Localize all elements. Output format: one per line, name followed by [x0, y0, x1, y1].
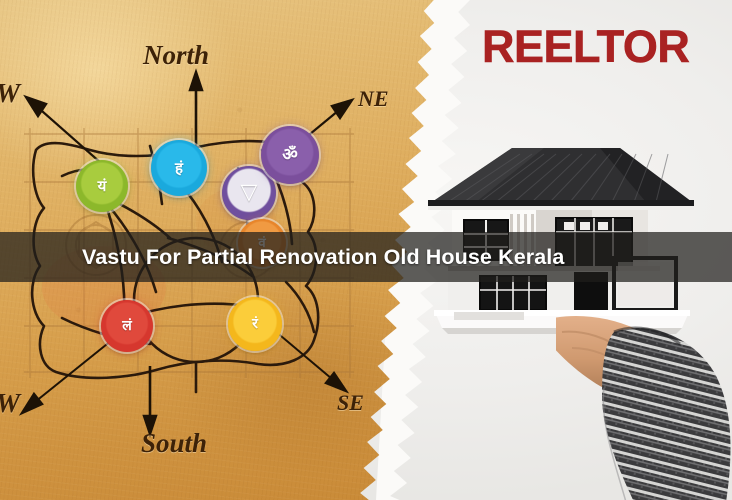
sahasrara-crown-chakra: ॐ [261, 126, 319, 184]
vishuddha-throat-chakra: हं [151, 140, 207, 196]
hand-holding-house [556, 310, 732, 500]
vishuddha-throat-chakra-glyph: हं [175, 161, 183, 176]
ajna-third-eye-chakra-glyph: ▽ [241, 182, 258, 204]
compass-label-northeast: NE [358, 86, 389, 112]
sahasrara-crown-chakra-glyph: ॐ [282, 147, 298, 164]
page-title: Vastu For Partial Renovation Old House K… [82, 245, 564, 270]
anahata-heart-chakra: यं [76, 160, 128, 212]
promo-banner-image: यंहं▽ॐलंरंवं [0, 0, 732, 500]
muladhara-root-chakra: लं [101, 300, 153, 352]
compass-label-southwest: W [0, 388, 20, 419]
compass-label-north: North [143, 40, 209, 71]
anahata-heart-chakra-glyph: यं [98, 179, 107, 194]
compass-label-northwest: W [0, 78, 20, 109]
compass-label-southeast: SE [337, 390, 364, 416]
compass-label-south: South [141, 428, 207, 459]
manipura-solar-chakra: रं [228, 297, 282, 351]
title-banner: Vastu For Partial Renovation Old House K… [0, 232, 732, 282]
reeltor-logo[interactable]: REELTOR [482, 24, 689, 69]
manipura-solar-chakra-glyph: रं [252, 317, 258, 331]
muladhara-root-chakra-glyph: लं [122, 319, 132, 333]
